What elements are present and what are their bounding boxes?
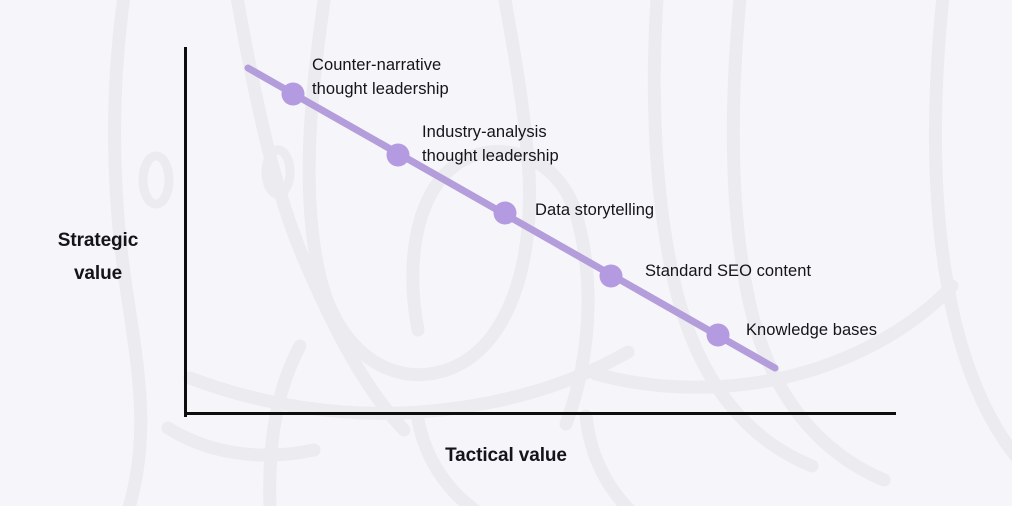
data-point-marker[interactable] bbox=[707, 324, 730, 347]
data-series bbox=[0, 0, 1012, 506]
data-point-label: Industry-analysis thought leadership bbox=[422, 121, 592, 168]
data-point-label: Data storytelling bbox=[535, 199, 705, 223]
data-point-marker[interactable] bbox=[387, 144, 410, 167]
data-point-marker[interactable] bbox=[600, 265, 623, 288]
chart-canvas: Strategic value Tactical value Counter-n… bbox=[0, 0, 1012, 506]
data-point-label: Counter-narrative thought leadership bbox=[312, 54, 482, 101]
data-point-label: Knowledge bases bbox=[746, 319, 926, 343]
data-point-marker[interactable] bbox=[282, 83, 305, 106]
data-point-label: Standard SEO content bbox=[645, 260, 845, 284]
data-point-marker[interactable] bbox=[494, 202, 517, 225]
